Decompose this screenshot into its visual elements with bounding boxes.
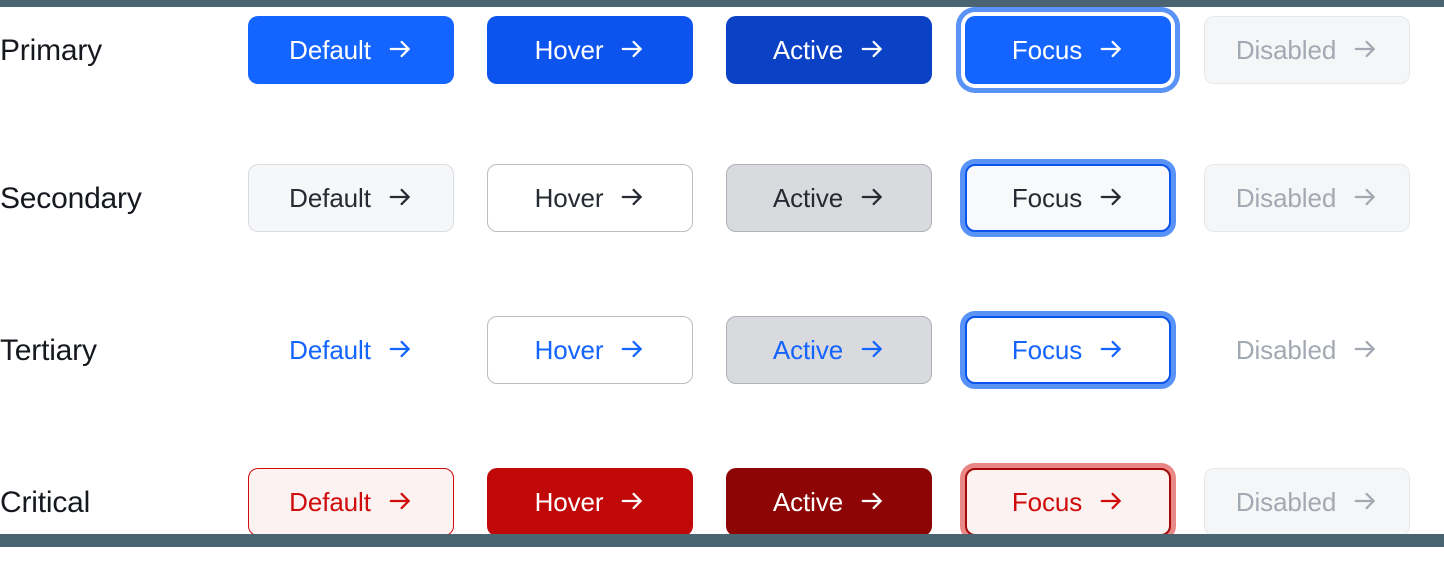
button-label: Default — [289, 487, 371, 518]
arrow-right-icon — [859, 36, 885, 62]
button-label: Focus — [1012, 35, 1082, 66]
arrow-right-icon — [859, 488, 885, 514]
button-critical-focus[interactable]: Focus — [965, 468, 1171, 536]
button-tertiary-focus[interactable]: Focus — [965, 316, 1171, 384]
cell-critical-hover: Hover — [487, 426, 726, 578]
top-chrome-bar — [0, 0, 1444, 7]
button-critical-default[interactable]: Default — [248, 468, 454, 536]
cell-critical-focus: Focus — [965, 426, 1204, 578]
cell-primary-hover: Hover — [487, 0, 726, 126]
row-label-critical: Critical — [0, 486, 248, 519]
button-secondary-default[interactable]: Default — [248, 164, 454, 232]
button-tertiary-hover[interactable]: Hover — [487, 316, 693, 384]
button-primary-focus[interactable]: Focus — [965, 16, 1171, 84]
button-label: Active — [773, 35, 843, 66]
cell-primary-active: Active — [726, 0, 965, 126]
button-label: Active — [773, 335, 843, 366]
button-critical-active[interactable]: Active — [726, 468, 932, 536]
button-label: Focus — [1012, 183, 1082, 214]
arrow-right-icon — [387, 184, 413, 210]
button-tertiary-disabled: Disabled — [1204, 316, 1410, 384]
cell-tertiary-disabled: Disabled — [1204, 274, 1443, 426]
arrow-right-icon — [387, 336, 413, 362]
button-critical-hover[interactable]: Hover — [487, 468, 693, 536]
cell-tertiary-active: Active — [726, 274, 965, 426]
arrow-right-icon — [619, 36, 645, 62]
button-label: Disabled — [1236, 35, 1336, 66]
button-label: Default — [289, 335, 371, 366]
button-label: Active — [773, 487, 843, 518]
arrow-right-icon — [1352, 488, 1378, 514]
row-label-primary: Primary — [0, 34, 248, 67]
button-secondary-active[interactable]: Active — [726, 164, 932, 232]
button-label: Disabled — [1236, 335, 1336, 366]
button-label: Default — [289, 35, 371, 66]
row-label-secondary: Secondary — [0, 182, 248, 215]
matrix-row-critical: Critical Default Hover Active — [0, 426, 1444, 578]
button-tertiary-active[interactable]: Active — [726, 316, 932, 384]
button-label: Hover — [535, 487, 604, 518]
bottom-chrome-bar — [0, 534, 1444, 547]
button-label: Disabled — [1236, 487, 1336, 518]
arrow-right-icon — [1098, 336, 1124, 362]
cell-critical-disabled: Disabled — [1204, 426, 1443, 578]
cell-secondary-focus: Focus — [965, 122, 1204, 274]
arrow-right-icon — [1352, 336, 1378, 362]
button-label: Hover — [535, 335, 604, 366]
button-label: Hover — [535, 183, 604, 214]
button-secondary-hover[interactable]: Hover — [487, 164, 693, 232]
cell-tertiary-default: Default — [248, 274, 487, 426]
cell-secondary-default: Default — [248, 122, 487, 274]
cell-secondary-active: Active — [726, 122, 965, 274]
button-label: Focus — [1012, 335, 1082, 366]
cell-critical-default: Default — [248, 426, 487, 578]
button-primary-active[interactable]: Active — [726, 16, 932, 84]
arrow-right-icon — [1098, 488, 1124, 514]
button-secondary-disabled: Disabled — [1204, 164, 1410, 232]
arrow-right-icon — [1098, 184, 1124, 210]
button-primary-disabled: Disabled — [1204, 16, 1410, 84]
arrow-right-icon — [1352, 184, 1378, 210]
button-states-matrix: Primary Default Hover Active — [0, 0, 1444, 547]
matrix-row-secondary: Secondary Default Hover Active — [0, 122, 1444, 274]
matrix-row-primary: Primary Default Hover Active — [0, 0, 1444, 126]
cell-tertiary-focus: Focus — [965, 274, 1204, 426]
cell-secondary-hover: Hover — [487, 122, 726, 274]
button-label: Default — [289, 183, 371, 214]
arrow-right-icon — [387, 488, 413, 514]
cell-secondary-disabled: Disabled — [1204, 122, 1443, 274]
arrow-right-icon — [619, 184, 645, 210]
button-tertiary-default[interactable]: Default — [248, 316, 454, 384]
arrow-right-icon — [619, 336, 645, 362]
cell-critical-active: Active — [726, 426, 965, 578]
cell-primary-default: Default — [248, 0, 487, 126]
button-primary-hover[interactable]: Hover — [487, 16, 693, 84]
button-label: Disabled — [1236, 183, 1336, 214]
button-label: Focus — [1012, 487, 1082, 518]
button-label: Active — [773, 183, 843, 214]
button-label: Hover — [535, 35, 604, 66]
arrow-right-icon — [1352, 36, 1378, 62]
arrow-right-icon — [619, 488, 645, 514]
arrow-right-icon — [1098, 36, 1124, 62]
cell-tertiary-hover: Hover — [487, 274, 726, 426]
row-label-tertiary: Tertiary — [0, 334, 248, 367]
cell-primary-focus: Focus — [965, 0, 1204, 126]
matrix-row-tertiary: Tertiary Default Hover Active — [0, 274, 1444, 426]
arrow-right-icon — [859, 336, 885, 362]
cell-primary-disabled: Disabled — [1204, 0, 1443, 126]
button-critical-disabled: Disabled — [1204, 468, 1410, 536]
button-secondary-focus[interactable]: Focus — [965, 164, 1171, 232]
button-primary-default[interactable]: Default — [248, 16, 454, 84]
arrow-right-icon — [387, 36, 413, 62]
arrow-right-icon — [859, 184, 885, 210]
